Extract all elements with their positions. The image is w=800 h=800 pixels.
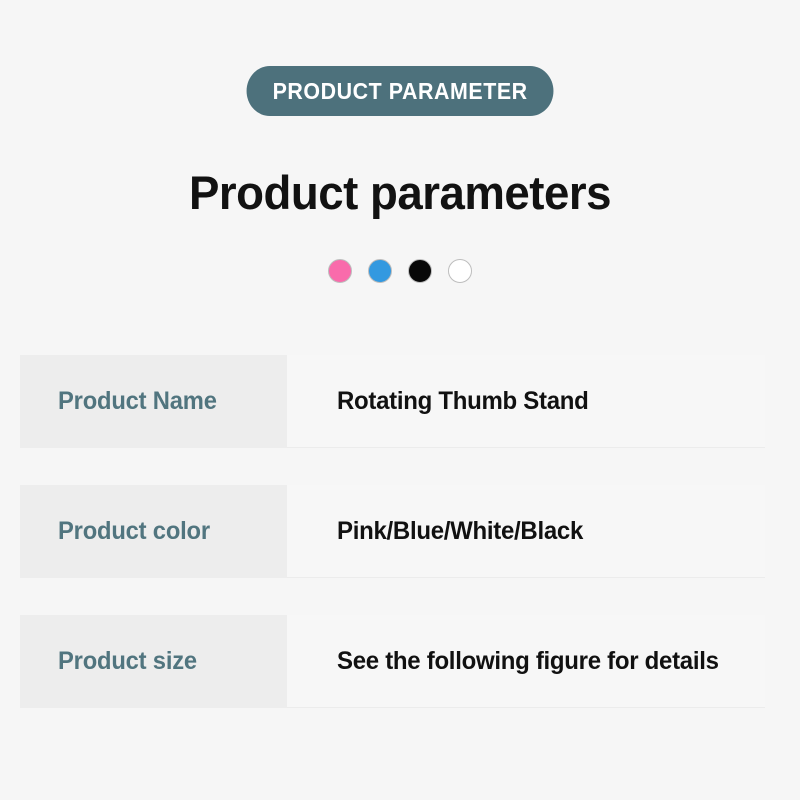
spec-value-cell: Rotating Thumb Stand xyxy=(287,355,765,448)
color-swatch-row xyxy=(0,259,800,283)
spec-label-text: Product color xyxy=(58,517,210,546)
table-row: Product size See the following figure fo… xyxy=(20,615,765,745)
product-parameters-page: PRODUCT PARAMETER Product parameters Pro… xyxy=(0,0,800,800)
spec-label-cell: Product size xyxy=(20,615,287,708)
white-swatch[interactable] xyxy=(448,259,472,283)
spec-value-cell: See the following figure for details xyxy=(287,615,765,708)
page-title: Product parameters xyxy=(12,164,788,222)
table-row: Product Name Rotating Thumb Stand xyxy=(20,355,765,485)
blue-swatch[interactable] xyxy=(368,259,392,283)
spec-label-text: Product Name xyxy=(58,387,217,416)
spec-label-cell: Product Name xyxy=(20,355,287,448)
spec-value-cell: Pink/Blue/White/Black xyxy=(287,485,765,578)
black-swatch[interactable] xyxy=(408,259,432,283)
spec-label-text: Product size xyxy=(58,647,197,676)
eyebrow-badge-container: PRODUCT PARAMETER xyxy=(0,66,800,116)
eyebrow-badge: PRODUCT PARAMETER xyxy=(246,66,553,116)
pink-swatch[interactable] xyxy=(328,259,352,283)
specification-table: Product Name Rotating Thumb Stand Produc… xyxy=(20,355,765,745)
spec-value-text: Rotating Thumb Stand xyxy=(337,387,589,416)
spec-value-text: Pink/Blue/White/Black xyxy=(337,517,583,546)
spec-value-text: See the following figure for details xyxy=(337,647,719,676)
spec-label-cell: Product color xyxy=(20,485,287,578)
table-row: Product color Pink/Blue/White/Black xyxy=(20,485,765,615)
